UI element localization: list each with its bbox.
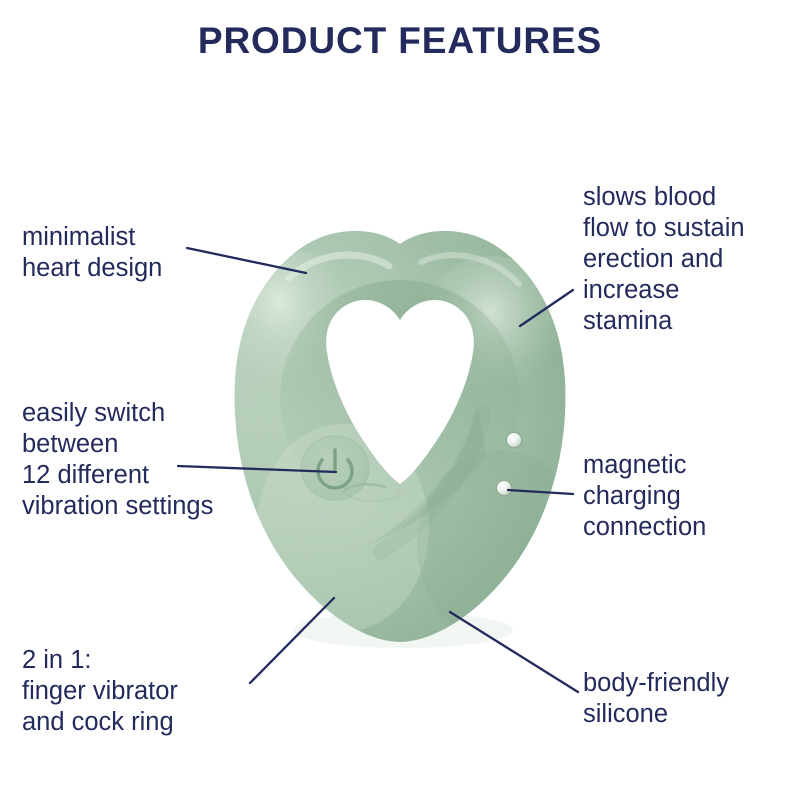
product-image [225,228,575,648]
charging-contact-lower [496,480,513,497]
charging-contact-upper [506,432,523,449]
callout-magnetic-charging: magnetic charging connection [583,450,793,543]
callout-heart-design: minimalist heart design [22,222,252,284]
callout-silicone: body-friendly silicone [583,668,798,730]
page-title: PRODUCT FEATURES [0,20,800,62]
power-button[interactable] [301,436,369,500]
callout-vibration-settings: easily switch between 12 different vibra… [22,398,274,522]
product-features-infographic: PRODUCT FEATURES [0,0,800,800]
product-body [225,228,575,648]
callout-blood-flow: slows blood flow to sustain erection and… [583,182,798,337]
callout-two-in-one: 2 in 1: finger vibrator and cock ring [22,645,272,738]
